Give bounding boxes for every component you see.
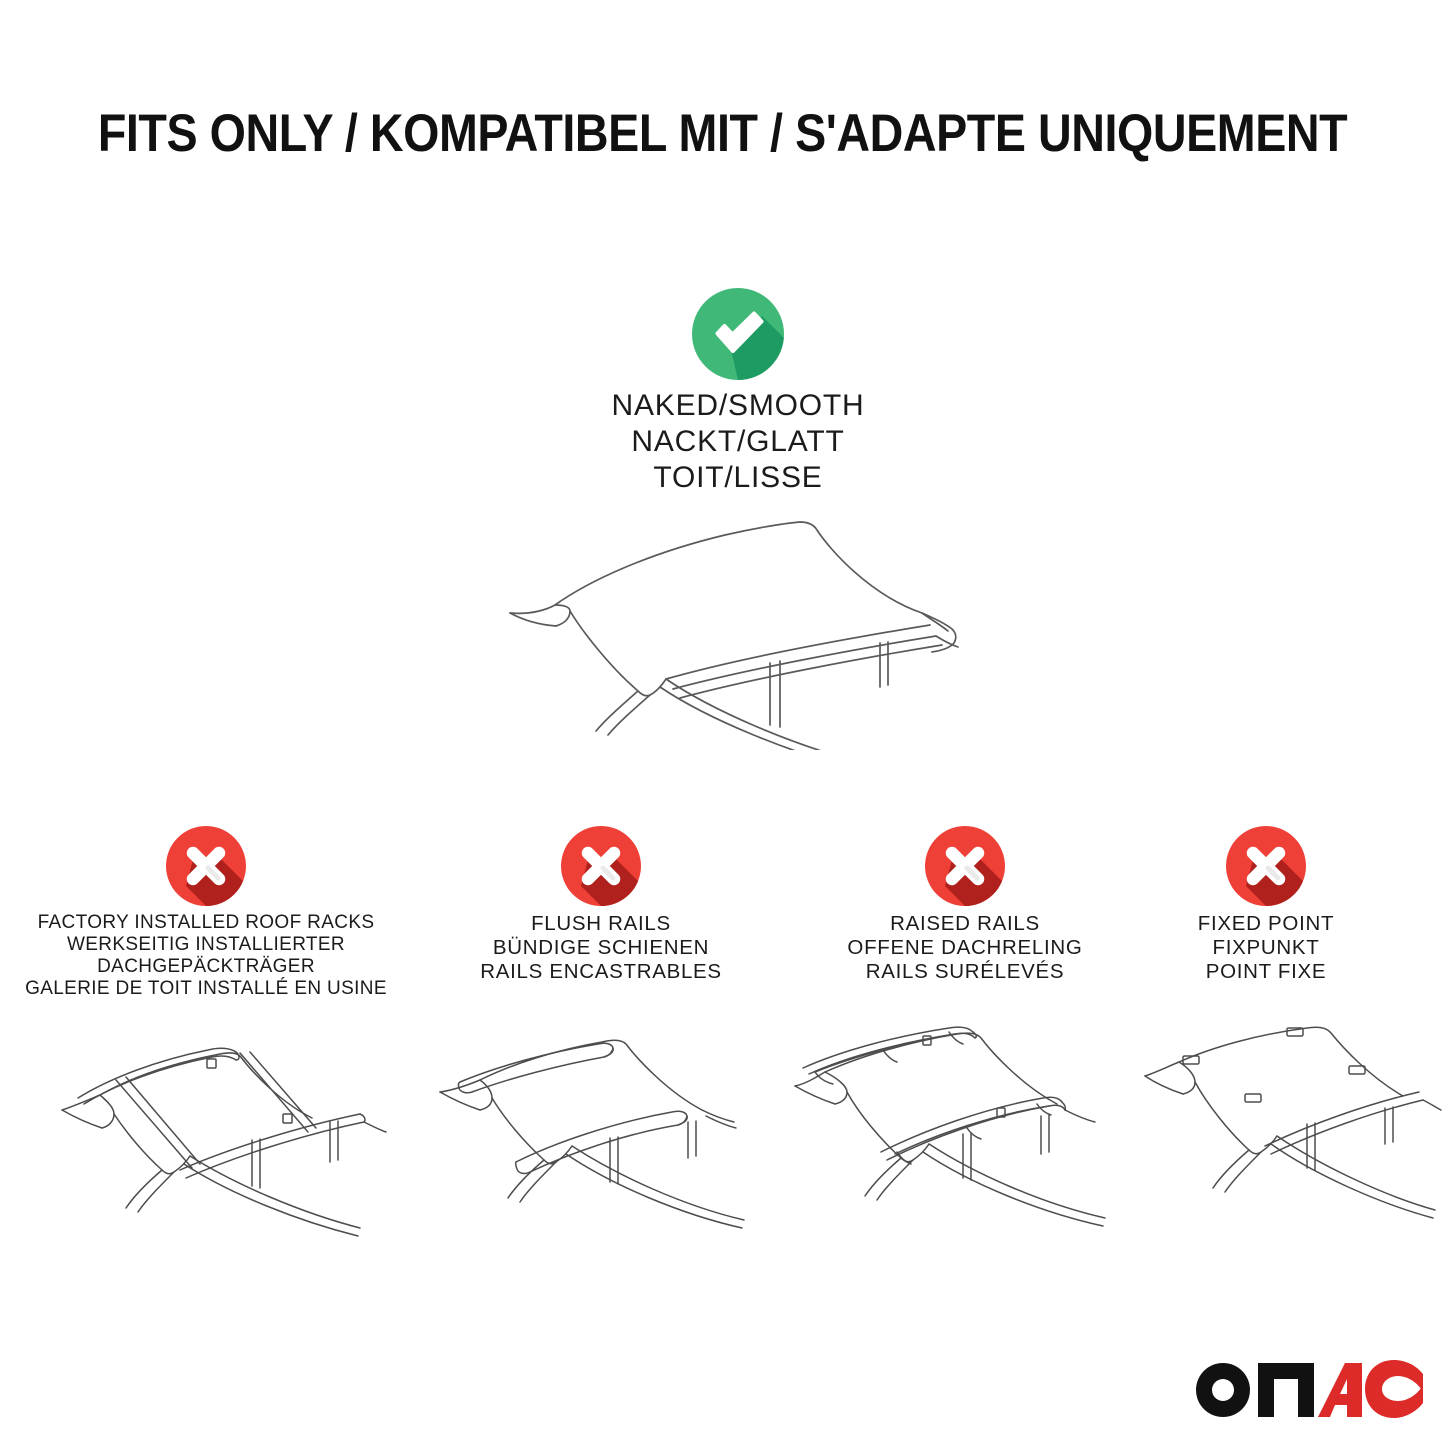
- incompatible-label-flush-rails: FLUSH RAILS BÜNDIGE SCHIENEN RAILS ENCAS…: [420, 912, 782, 984]
- compatibility-infographic: FITS ONLY / KOMPATIBEL MIT / S'ADAPTE UN…: [0, 0, 1445, 1445]
- naked-smooth-roof-drawing: [470, 495, 990, 750]
- label-line: RAILS ENCASTRABLES: [420, 960, 782, 984]
- incompatible-label-fixed-point: FIXED POINT FIXPUNKT POINT FIXE: [1116, 912, 1416, 984]
- label-line: POINT FIXE: [1116, 960, 1416, 984]
- green-check-circle-icon: [692, 288, 784, 380]
- logo-letter-m: [1258, 1363, 1314, 1417]
- omac-logo: [1192, 1356, 1424, 1418]
- incompatible-label-raised-rails: RAISED RAILS OFFENE DACHRELING RAILS SUR…: [784, 912, 1146, 984]
- compatible-label-line-3: TOIT/LISSE: [432, 460, 1044, 496]
- incompatible-label-factory-racks: FACTORY INSTALLED ROOF RACKS WERKSEITIG …: [6, 912, 406, 1000]
- logo-letter-a: [1318, 1363, 1362, 1417]
- label-line: BÜNDIGE SCHIENEN: [420, 936, 782, 960]
- raised-rails-drawing: [785, 1020, 1145, 1240]
- red-x-circle-icon: [561, 826, 641, 906]
- label-line: WERKSEITIG INSTALLIERTER: [6, 934, 406, 956]
- red-x-circle-icon: [925, 826, 1005, 906]
- label-line: GALERIE DE TOIT INSTALLÉ EN USINE: [6, 978, 406, 1000]
- compatible-label-line-2: NACKT/GLATT: [432, 424, 1044, 460]
- compatible-label-line-1: NAKED/SMOOTH: [432, 388, 1044, 424]
- label-line: RAILS SURÉLEVÉS: [784, 960, 1146, 984]
- label-line: FIXPUNKT: [1116, 936, 1416, 960]
- logo-letter-c: [1365, 1360, 1423, 1418]
- factory-roof-rack-drawing: [40, 1020, 400, 1240]
- red-x-circle-icon: [1226, 826, 1306, 906]
- compatible-label: NAKED/SMOOTH NACKT/GLATT TOIT/LISSE: [432, 388, 1044, 496]
- label-line: DACHGEPÄCKTRÄGER: [6, 956, 406, 978]
- label-line: RAISED RAILS: [784, 912, 1146, 936]
- page-title: FITS ONLY / KOMPATIBEL MIT / S'ADAPTE UN…: [87, 104, 1359, 164]
- fixed-point-drawing: [1135, 1020, 1445, 1240]
- label-line: FACTORY INSTALLED ROOF RACKS: [6, 912, 406, 934]
- red-x-circle-icon: [166, 826, 246, 906]
- label-line: FLUSH RAILS: [420, 912, 782, 936]
- label-line: OFFENE DACHRELING: [784, 936, 1146, 960]
- logo-letter-o: [1196, 1363, 1250, 1417]
- flush-rails-drawing: [420, 1020, 780, 1240]
- label-line: FIXED POINT: [1116, 912, 1416, 936]
